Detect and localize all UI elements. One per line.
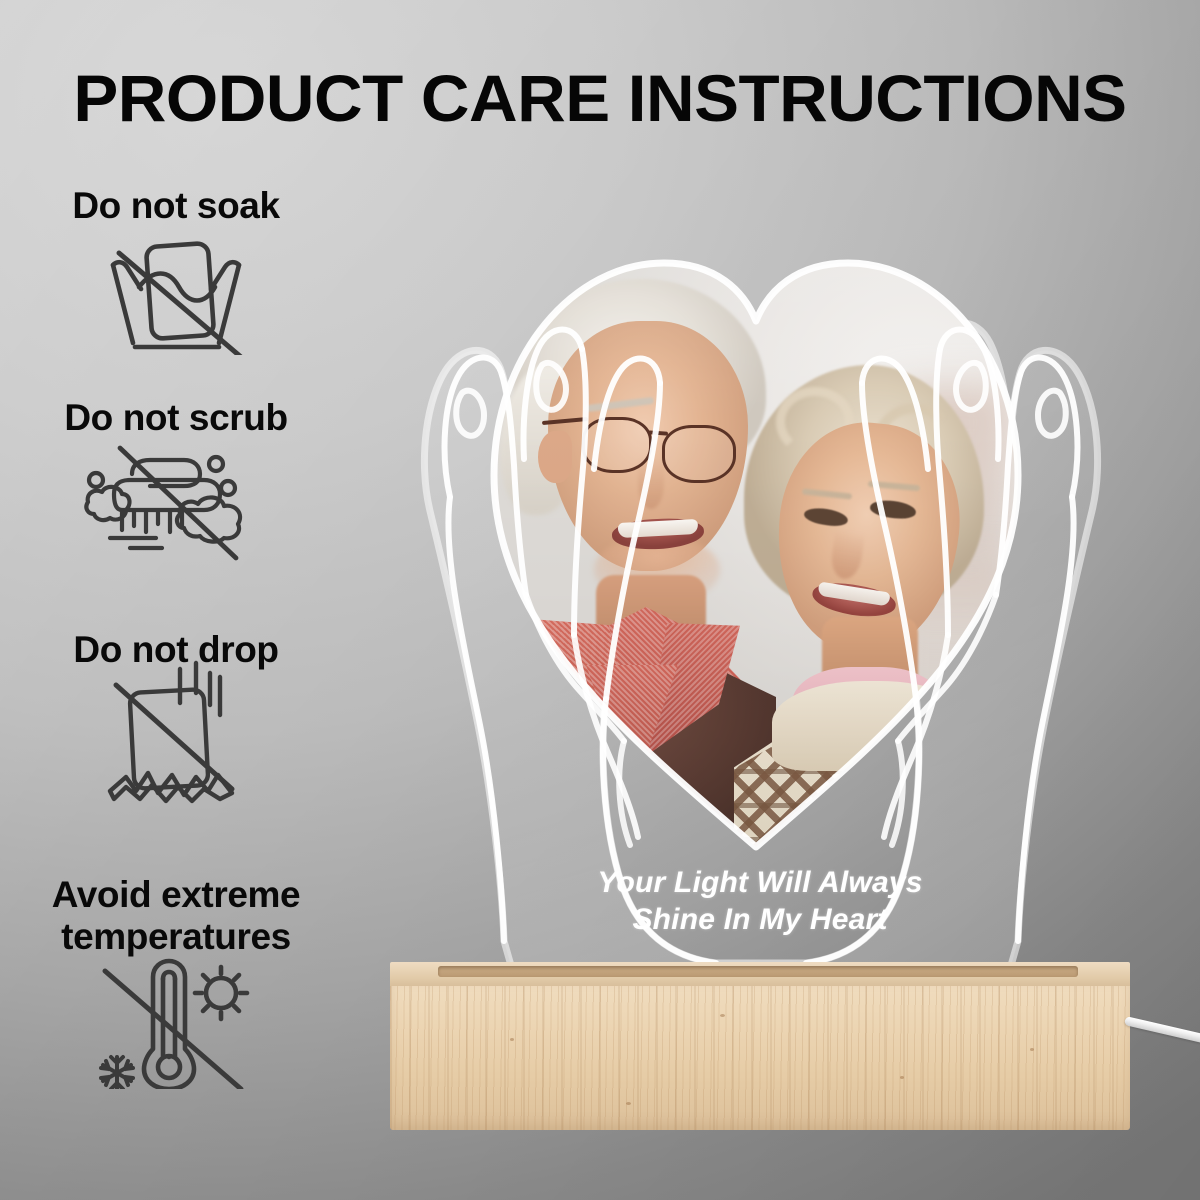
care-item-avoid-extreme-temperatures: Avoid extreme temperatures (0, 874, 352, 1124)
wood-knot (626, 1102, 631, 1105)
page-title: PRODUCT CARE INSTRUCTIONS (0, 60, 1200, 136)
acrylic-plaque: Your Light Will Always Shine In My Heart (370, 225, 1150, 1000)
care-label-line2: temperatures (0, 916, 352, 958)
no-drop-icon (0, 675, 352, 793)
engraved-caption: Your Light Will Always Shine In My Heart (520, 865, 1000, 938)
care-item-do-not-soak: Do not soak (0, 185, 352, 387)
care-item-do-not-scrub: Do not scrub (0, 397, 352, 619)
no-extreme-temperature-icon (0, 962, 352, 1080)
no-soak-icon (0, 231, 352, 349)
wood-knot (900, 1076, 904, 1079)
wood-knot (510, 1038, 514, 1041)
acrylic-night-light-product: Your Light Will Always Shine In My Heart (370, 225, 1150, 1145)
base-acrylic-slot (438, 966, 1078, 977)
wood-knot (720, 1014, 725, 1017)
base-front-face (390, 986, 1130, 1130)
caption-line-2: Shine In My Heart (520, 902, 1000, 939)
caption-line-1: Your Light Will Always (520, 865, 1000, 902)
no-scrub-icon (0, 443, 352, 561)
care-item-do-not-drop: Do not drop (0, 629, 352, 864)
wooden-base (390, 962, 1130, 1130)
care-label-avoid-extreme-temperatures: Avoid extreme temperatures (0, 874, 352, 958)
wood-knot (1030, 1048, 1034, 1051)
care-label-do-not-scrub: Do not scrub (0, 397, 352, 439)
care-label-do-not-soak: Do not soak (0, 185, 352, 227)
care-instruction-list: Do not soak Do not scrub (0, 185, 352, 1134)
care-label-line1: Avoid extreme (0, 874, 352, 916)
